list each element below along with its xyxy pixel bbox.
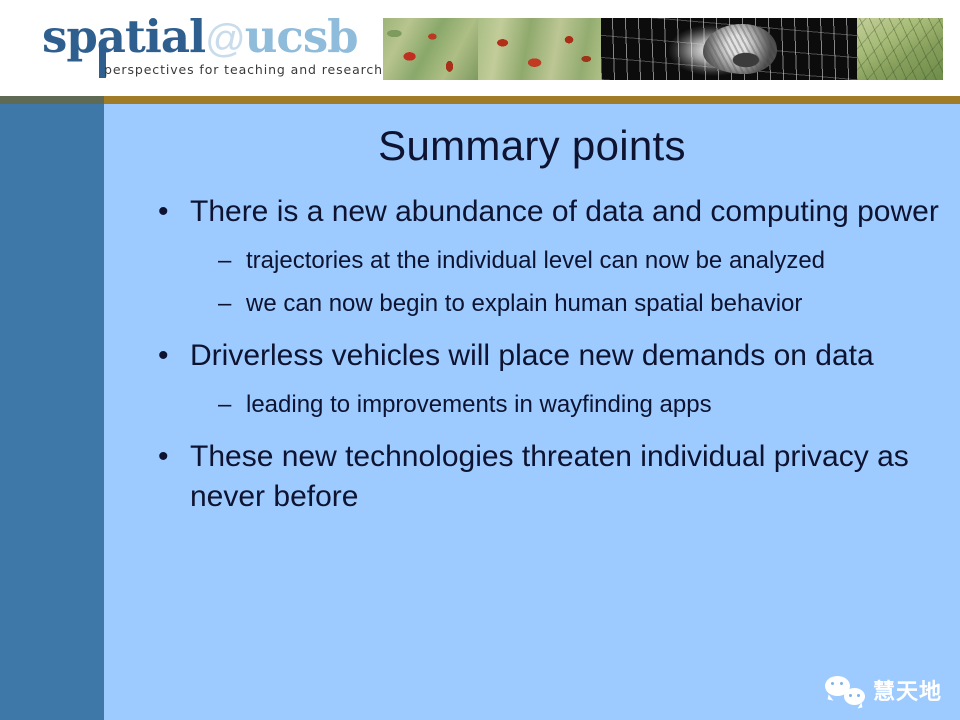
logo-wordmark: spatial@ucsb: [42, 14, 358, 60]
header-divider-rule-shadowed: [0, 96, 104, 104]
at-symbol-icon: @: [205, 17, 245, 61]
bullet-list: • There is a new abundance of data and c…: [150, 192, 960, 521]
satellite-imagery-1: [383, 18, 478, 80]
page-title: Summary points: [104, 122, 960, 170]
sub-list-item: – leading to improvements in wayfinding …: [150, 388, 960, 421]
header-image-strip: [383, 18, 943, 80]
logo-word-spatial: spatial: [42, 10, 205, 63]
bubble-dot: [857, 694, 860, 697]
spacer: [150, 236, 960, 244]
bullet-marker-icon: •: [158, 336, 169, 376]
spacer: [150, 279, 960, 287]
sidebar-band: [0, 104, 104, 720]
slide-header: spatial@ucsb perspectives for teaching a…: [0, 0, 960, 96]
spatial-ucsb-logo: spatial@ucsb perspectives for teaching a…: [42, 14, 362, 80]
list-item-text: Driverless vehicles will place new deman…: [190, 339, 874, 372]
logo-tagline: perspectives for teaching and research: [104, 62, 383, 77]
list-item: • Driverless vehicles will place new dem…: [150, 336, 960, 376]
bullet-marker-icon: •: [158, 437, 169, 477]
dash-marker-icon: –: [218, 244, 231, 277]
sub-list-item-text: trajectories at the individual level can…: [246, 247, 825, 274]
bubble-dot: [840, 682, 843, 685]
logo-word-ucsb: ucsb: [245, 10, 358, 63]
brain-mri-web-overlay: [601, 18, 857, 80]
list-item: • There is a new abundance of data and c…: [150, 192, 960, 232]
sub-list-item: – we can now begin to explain human spat…: [150, 287, 960, 320]
satellite-imagery-2: [478, 18, 601, 80]
terrain-imagery: [857, 18, 943, 80]
header-divider-rule: [0, 96, 960, 104]
bubble-dot: [849, 694, 852, 697]
slide-content: Summary points • There is a new abundanc…: [104, 104, 960, 720]
brain-scan-icon: [703, 24, 777, 74]
list-item: • These new technologies threaten indivi…: [150, 437, 960, 517]
wechat-logo-icon: [825, 675, 865, 705]
spacer: [150, 380, 960, 388]
dash-marker-icon: –: [218, 388, 231, 421]
spacer: [150, 423, 960, 437]
bullet-marker-icon: •: [158, 192, 169, 232]
bubble-dot: [831, 682, 834, 685]
watermark-label: 慧天地: [873, 674, 942, 706]
presentation-slide: spatial@ucsb perspectives for teaching a…: [0, 0, 960, 720]
list-item-text: These new technologies threaten individu…: [190, 440, 909, 513]
spacer: [150, 322, 960, 336]
sub-list-item-text: leading to improvements in wayfinding ap…: [246, 391, 712, 418]
dash-marker-icon: –: [218, 287, 231, 320]
wechat-watermark: 慧天地: [825, 674, 942, 706]
list-item-text: There is a new abundance of data and com…: [190, 195, 939, 228]
sub-list-item: – trajectories at the individual level c…: [150, 244, 960, 277]
sub-list-item-text: we can now begin to explain human spatia…: [246, 290, 802, 317]
speech-bubble-small-icon: [844, 688, 865, 705]
